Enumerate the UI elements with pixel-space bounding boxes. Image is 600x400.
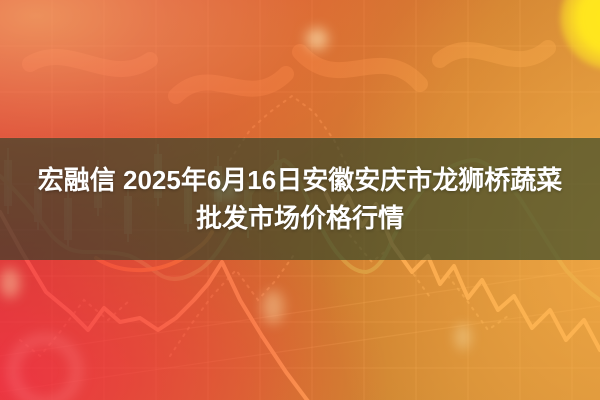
bokeh-spot [8,334,82,400]
title-line-2: 批发市场价格行情 [196,201,404,235]
bokeh-spot [0,268,20,298]
bokeh-spot [306,28,328,50]
title-line-1: 宏融信 2025年6月16日安徽安庆市龙狮桥蔬菜 [38,163,562,197]
banner-title: 宏融信 2025年6月16日安徽安庆市龙狮桥蔬菜 批发市场价格行情 [0,138,600,260]
banner-image: 宏融信 2025年6月16日安徽安庆市龙狮桥蔬菜 批发市场价格行情 [0,0,600,400]
bokeh-spot [262,290,284,324]
bokeh-spot [455,324,471,350]
